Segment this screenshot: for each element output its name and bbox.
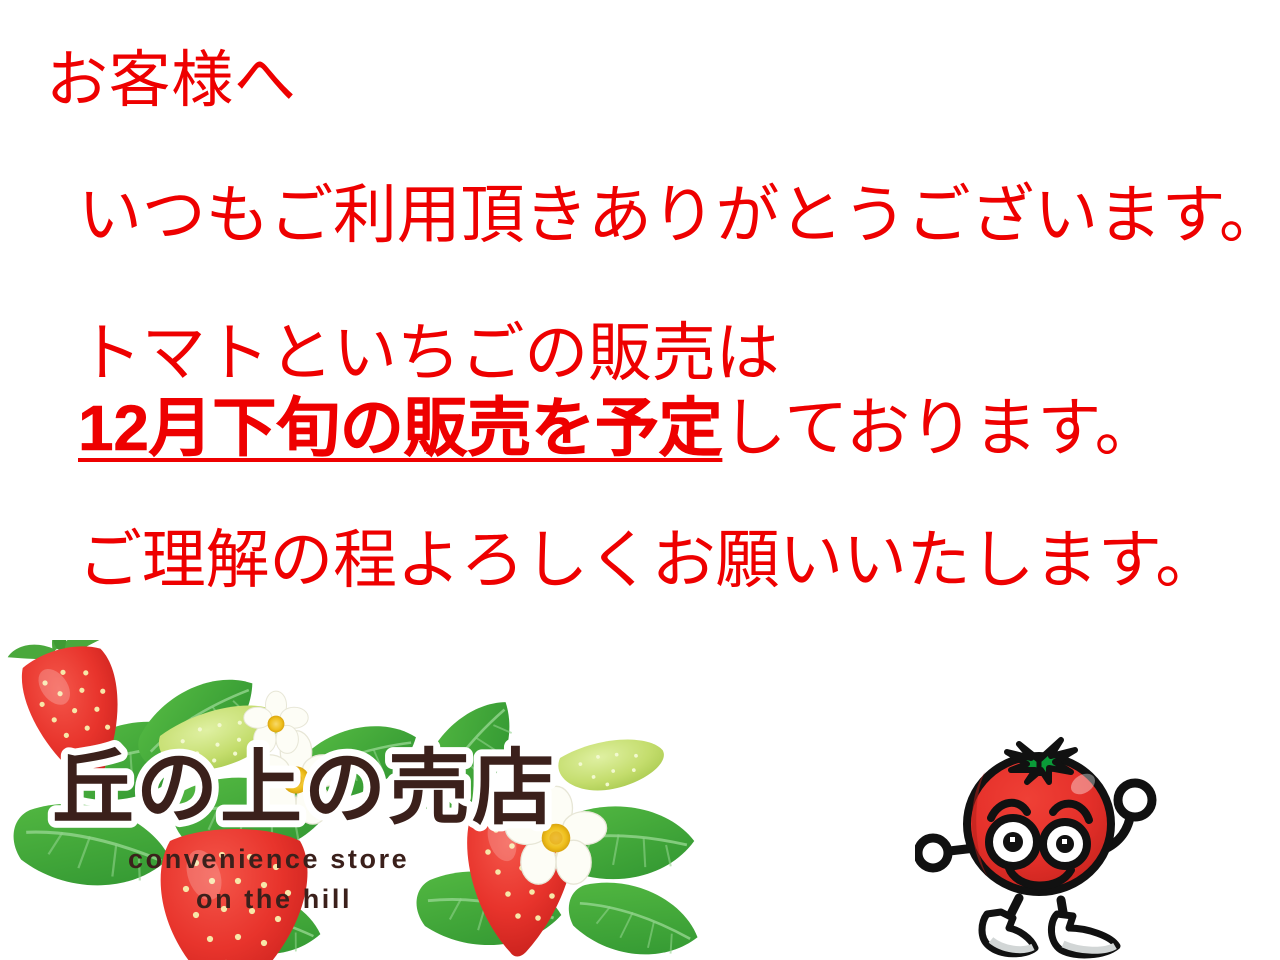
- notice-paragraph-sales-intro: トマトといちごの販売は: [78, 316, 1268, 392]
- sales-date-tail: しております。: [722, 392, 1158, 464]
- logo-tagline-line1: convenience store: [128, 844, 409, 874]
- svg-text:丘の上の売店: 丘の上の売店: [52, 743, 556, 834]
- paragraph-spacer: [78, 467, 1268, 523]
- mascot-body: [967, 756, 1111, 892]
- notice-sheet: お客様へ いつもご利用頂きありがとうございます。 トマトといちごの販売は 12月…: [0, 0, 1280, 960]
- tomato-mascot: [915, 700, 1185, 960]
- mascot-right-shoe: [1051, 914, 1117, 955]
- notice-body: いつもご利用頂きありがとうございます。 トマトといちごの販売は 12月下旬の販売…: [78, 178, 1268, 598]
- logo-tagline-line2: on the hill: [196, 884, 352, 914]
- sales-date-emphasis: 12月下旬の販売を予定: [78, 392, 722, 464]
- shop-logo: 丘の上の売店 丘の上の売店 convenience store on the h…: [0, 640, 700, 960]
- notice-paragraph-sales-date: 12月下旬の販売を予定しております。: [78, 391, 1268, 467]
- unripe-strawberry: [555, 730, 669, 799]
- paragraph-spacer: [78, 254, 1268, 316]
- page-title: お客様へ: [46, 48, 296, 113]
- notice-paragraph-closing: ご理解の程よろしくお願いいたします。: [78, 523, 1268, 599]
- mascot-left-shoe: [982, 912, 1035, 954]
- notice-paragraph-thanks: いつもご利用頂きありがとうございます。: [78, 178, 1268, 254]
